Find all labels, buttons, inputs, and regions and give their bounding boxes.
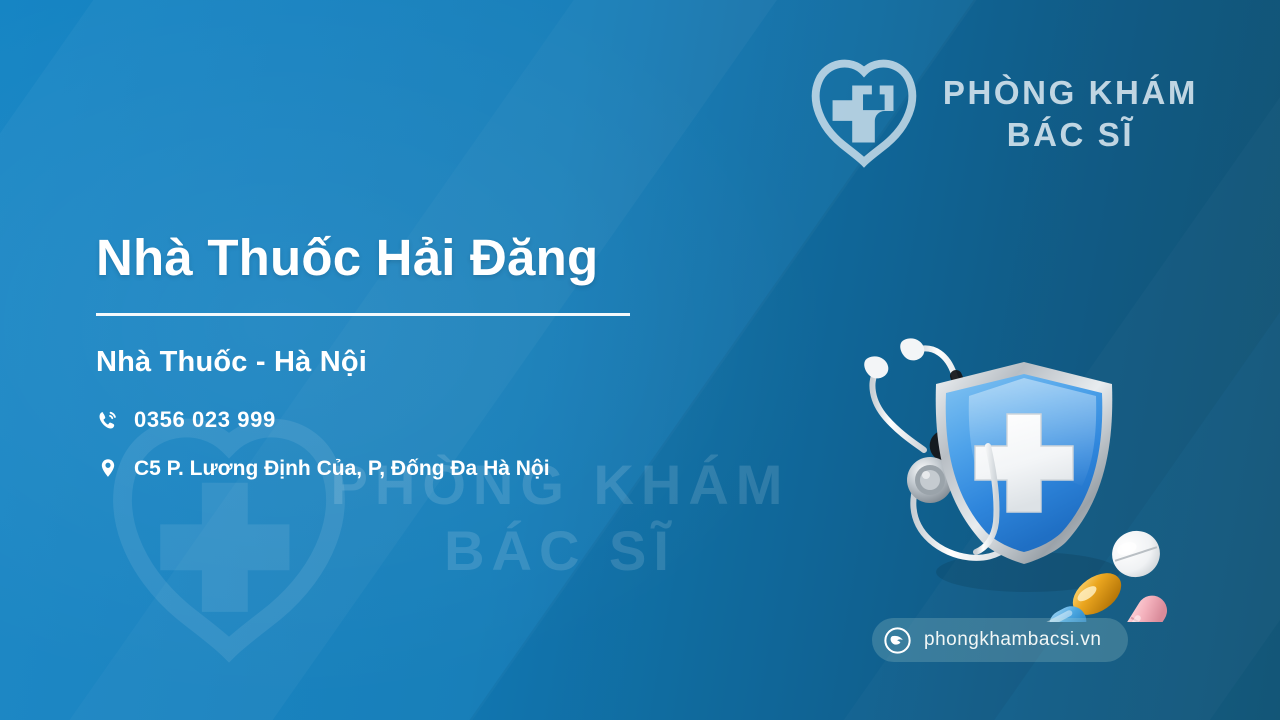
brand-wordmark: PHÒNG KHÁM BÁC SĨ (943, 72, 1198, 155)
website-badge[interactable]: phongkhambacsi.vn (872, 618, 1128, 662)
business-card-banner: PHÒNG KHÁM BÁC SĨ PHÒNG KHÁM BÁC SĨ Nhà … (0, 0, 1280, 720)
business-info-block: Nhà Thuốc Hải Đăng Nhà Thuốc - Hà Nội 03… (96, 230, 796, 484)
page-title: Nhà Thuốc Hải Đăng (96, 230, 796, 285)
brand-wordmark-line-1: PHÒNG KHÁM (943, 74, 1198, 111)
business-category: Nhà Thuốc - Hà Nội (96, 346, 796, 379)
website-url: phongkhambacsi.vn (924, 629, 1102, 651)
address-row[interactable]: C5 P. Lương Định Của, P, Đống Đa Hà Nội (96, 453, 796, 484)
phone-row[interactable]: 0356 023 999 (96, 407, 796, 433)
divider (96, 313, 630, 316)
location-pin-icon (96, 453, 120, 480)
brand-logo: PHÒNG KHÁM BÁC SĨ (805, 58, 1198, 170)
brand-wordmark-line-2: BÁC SĨ (943, 114, 1198, 156)
globe-icon (884, 627, 911, 654)
watermark-line-2: BÁC SĨ (300, 518, 820, 584)
phone-number: 0356 023 999 (134, 407, 276, 433)
phone-icon (96, 409, 120, 432)
medical-cross-heart-icon (805, 58, 923, 170)
medical-shield-stethoscope-pills-illustration (838, 322, 1186, 622)
address-text: C5 P. Lương Định Của, P, Đống Đa Hà Nội (134, 453, 550, 484)
